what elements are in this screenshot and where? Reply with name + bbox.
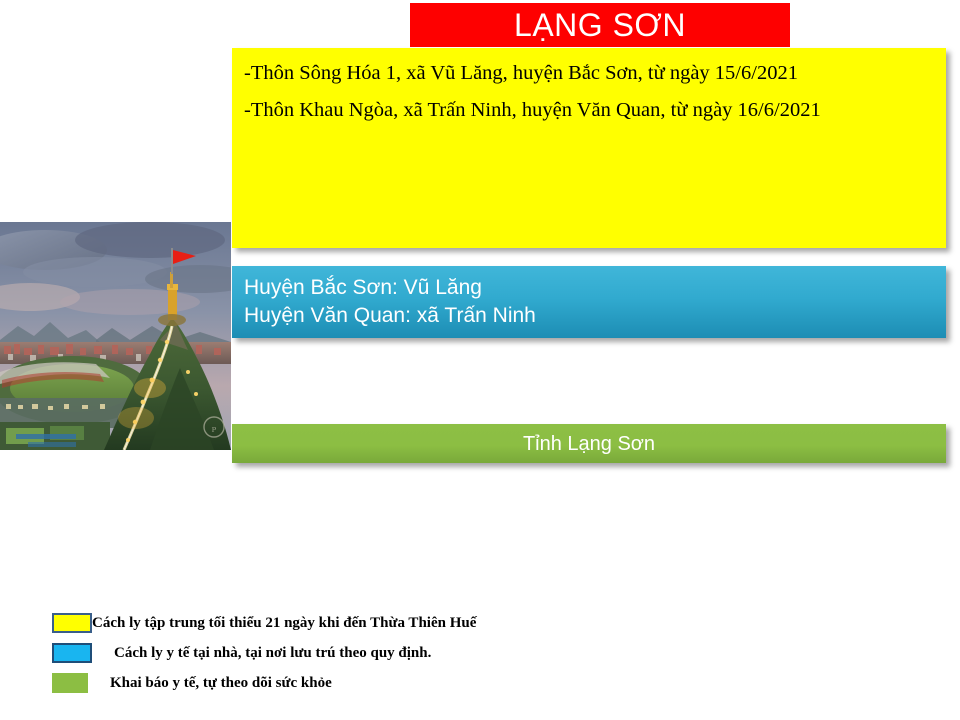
location-line-1: -Thôn Sông Hóa 1, xã Vũ Lăng, huyện Bắc …	[244, 60, 932, 87]
legend-item-health-declaration: Khai báo y tế, tự theo dõi sức khỏe	[52, 668, 752, 698]
legend-swatch-yellow	[52, 613, 92, 633]
legend-swatch-blue	[52, 643, 92, 663]
legend-swatch-green	[52, 673, 88, 693]
legend-label-yellow: Cách ly tập trung tối thiểu 21 ngày khi …	[92, 615, 476, 632]
legend: Cách ly tập trung tối thiểu 21 ngày khi …	[52, 608, 752, 698]
legend-item-quarantine-home: Cách ly y tế tại nhà, tại nơi lưu trú th…	[52, 638, 752, 668]
province-photo: ᴘ	[0, 222, 231, 450]
location-line-2: -Thôn Khau Ngòa, xã Trấn Ninh, huyện Văn…	[244, 97, 932, 124]
page-title: LẠNG SƠN	[514, 9, 686, 41]
district-line-1: Huyện Bắc Sơn: Vũ Lăng	[244, 274, 946, 302]
quarantine-locations-box: -Thôn Sông Hóa 1, xã Vũ Lăng, huyện Bắc …	[232, 48, 946, 248]
legend-label-blue: Cách ly y tế tại nhà, tại nơi lưu trú th…	[114, 645, 431, 662]
district-line-2: Huyện Văn Quan: xã Trấn Ninh	[244, 302, 946, 330]
province-level-bar: Tỉnh Lạng Sơn	[232, 424, 946, 463]
district-summary-box: Huyện Bắc Sơn: Vũ Lăng Huyện Văn Quan: x…	[232, 266, 946, 338]
province-level-label: Tỉnh Lạng Sơn	[523, 434, 655, 454]
province-photo-illustration: ᴘ	[0, 222, 231, 450]
legend-label-green: Khai báo y tế, tự theo dõi sức khỏe	[110, 675, 332, 692]
province-title-banner: LẠNG SƠN	[410, 3, 790, 47]
legend-item-quarantine-central: Cách ly tập trung tối thiểu 21 ngày khi …	[52, 608, 752, 638]
svg-text:ᴘ: ᴘ	[212, 424, 217, 435]
